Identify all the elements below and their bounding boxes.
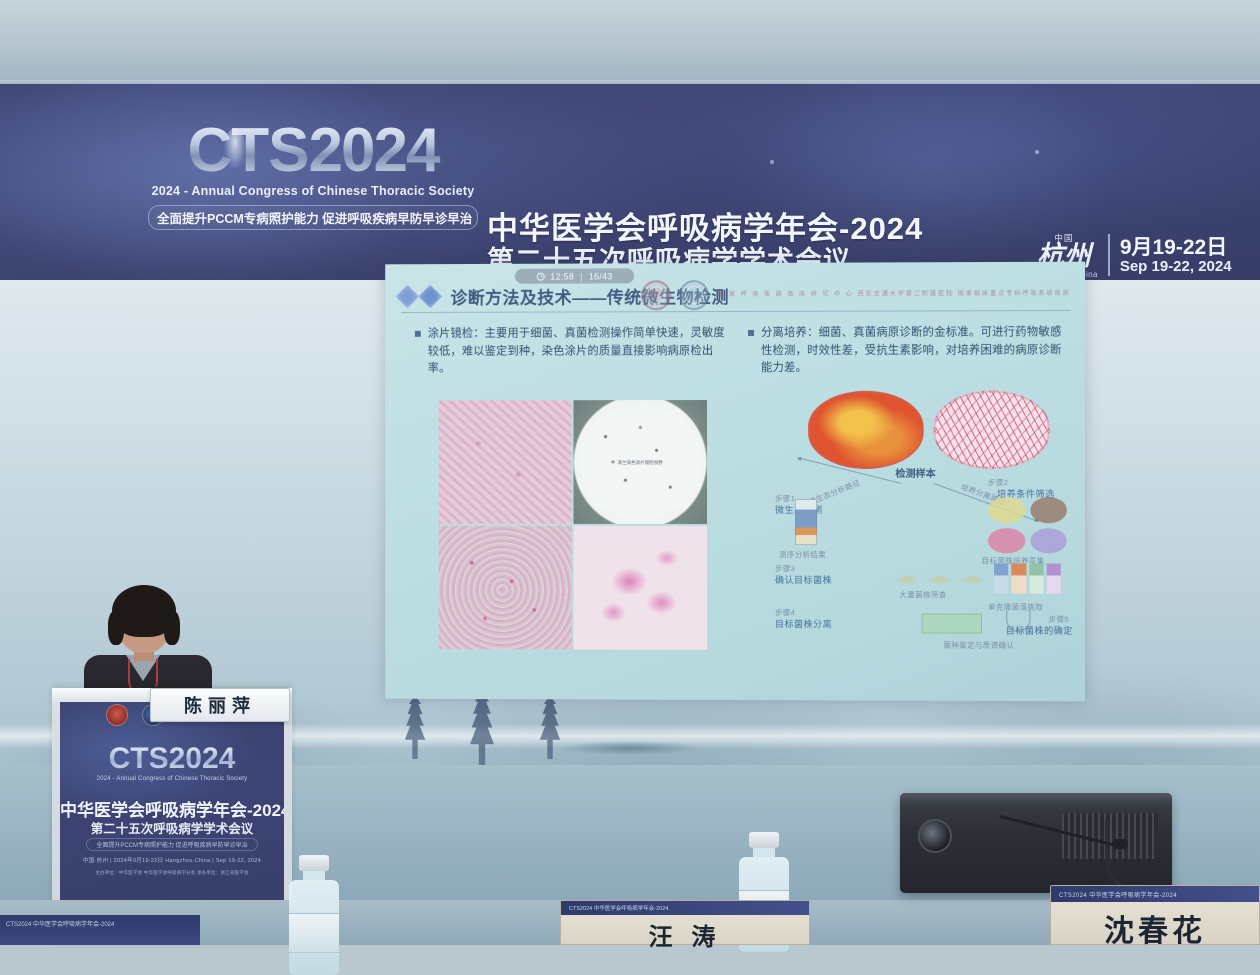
podium-cts-year: 2024	[169, 742, 236, 775]
speaker-name: 陈丽萍	[184, 692, 256, 718]
mic-arm	[1000, 815, 1117, 847]
placard-banner: CTS2024 中华医学会呼吸病学年会-2024	[561, 901, 809, 915]
backdrop-dot	[770, 160, 774, 164]
podium-cts-letters: CTS	[109, 742, 169, 775]
slide-bullet-area: 涂片镜检：主要用于细菌、真菌检测操作简单快速，灵敏度较低，难以鉴定到种，染色涂片…	[415, 324, 1067, 378]
timer-elapsed: 12:58	[550, 271, 574, 281]
micrograph-darkfield: 革兰染色涂片镜检视野	[573, 400, 707, 524]
upper-wall	[0, 0, 1260, 90]
institution-seal-icon	[641, 280, 671, 310]
colony-dot	[988, 497, 1025, 523]
bottle-neck	[303, 870, 325, 882]
placard-banner: CTS2024 中华医学会呼吸病学年会-2024	[0, 915, 200, 932]
slide-page-indicator: 16/43	[589, 271, 613, 281]
test-strip	[994, 563, 1008, 593]
slide-institution-logos: 国 家 呼 吸 疾 病 临 床 研 究 中 心 西安交通大学第二附属医院 国家临…	[641, 279, 1070, 310]
culture-plate-row	[808, 390, 1050, 468]
speaker-nameplate: 陈丽萍	[150, 688, 290, 722]
placard-name: 汪 涛	[561, 917, 809, 952]
torch-icon	[224, 128, 246, 168]
bottle-cap	[749, 832, 779, 848]
divider	[1108, 234, 1110, 276]
stage-backdrop: CTS2024 2024 - Annual Congress of Chines…	[0, 84, 1260, 280]
projector-lens-icon	[918, 819, 952, 853]
square-bullet-icon	[748, 330, 754, 336]
mic-head-icon	[1112, 839, 1128, 849]
workflow-annotation: 测序分析结果	[779, 549, 826, 560]
bacteria-chain-icon	[891, 571, 988, 587]
sample-tube-icon	[795, 499, 817, 545]
slide-surface: 12:58 | 16/43 诊断方法及技术——传统微生物检测 国 家 呼 吸 疾…	[385, 262, 1085, 702]
cts-year: 2024	[309, 116, 439, 185]
institution-seal-icon	[106, 704, 128, 726]
diamond-bullet-icon	[418, 285, 442, 309]
institution-text: 国 家 呼 吸 疾 病 临 床 研 究 中 心 西安交通大学第二附属医院 国家临…	[717, 290, 1071, 300]
test-strip-row	[994, 563, 1061, 593]
micrograph-tissue-stain	[439, 400, 572, 524]
mural-islet	[560, 741, 700, 755]
table-placard-center: CTS2024 中华医学会呼吸病学年会-2024 汪 涛	[560, 900, 810, 945]
podium-logo-subtitle: 2024 - Annual Congress of Chinese Thorac…	[60, 776, 284, 782]
bullet-text: 涂片镜检：主要用于细菌、真菌检测操作简单快速，灵敏度较低，难以鉴定到种，染色涂片…	[428, 325, 730, 378]
placard-name: 沈春花	[1051, 906, 1259, 950]
presentation-timer-badge: 12:58 | 16/43	[515, 268, 634, 283]
dates-block: 9月19-22日 Sep 19-22, 2024	[1120, 236, 1232, 276]
date-cn: 9月19-22日	[1120, 236, 1232, 259]
projection-screen: 12:58 | 16/43 诊断方法及技术——传统微生物检测 国 家 呼 吸 疾…	[385, 262, 1085, 702]
bullet-item: 分离培养：细菌、真菌病原诊断的金标准。可进行药物敏感性检测，时效性差，受抗生素影…	[748, 324, 1067, 377]
cts-subtitle: 2024 - Annual Congress of Chinese Thorac…	[148, 184, 478, 198]
colony-cluster-icon	[988, 497, 1067, 553]
slide-header-rule	[401, 310, 1071, 313]
seal-inner-ring	[647, 286, 665, 304]
workflow-step-label: 目标菌株分离	[775, 617, 832, 630]
workflow-header: 检测样本	[895, 465, 935, 480]
colony-dot	[1030, 528, 1067, 554]
workflow-diagram: 检测样本 微生态分析路径 培养分离路径 步骤1 微生态检测 测序分析结果 步骤2…	[773, 463, 1075, 654]
speaker-hair	[112, 585, 176, 637]
agar-streak-icon	[922, 613, 982, 633]
workflow-annotation: 菌种鉴定与质谱确认	[944, 640, 1015, 651]
workflow-step-label: 确认目标菌株	[775, 573, 832, 586]
workflow-annotation: 大量菌株筛查	[899, 589, 946, 600]
micrograph-grid: 革兰染色涂片镜检视野	[439, 400, 707, 650]
bullet-text: 分离培养：细菌、真菌病原诊断的金标准。可进行药物敏感性检测，时效性差，受抗生素影…	[761, 324, 1067, 377]
bullet-column-right: 分离培养：细菌、真菌病原诊断的金标准。可进行药物敏感性检测，时效性差，受抗生素影…	[748, 324, 1067, 377]
cts-logo: CTS2024 2024 - Annual Congress of Chines…	[148, 120, 478, 230]
bottle-neck	[753, 847, 775, 859]
blood-agar-plate	[808, 391, 923, 469]
podium-cts-logo: CTS2024	[60, 744, 284, 774]
diamond-bullet-icon	[396, 285, 420, 309]
bottle-cap	[299, 855, 329, 871]
table-placard-left: CTS2024 中华医学会呼吸病学年会-2024	[0, 915, 200, 945]
colony-dot	[1030, 497, 1067, 523]
cts-letters: CTS	[188, 116, 309, 185]
micrograph-caption: 革兰染色涂片镜检视野	[618, 460, 663, 466]
test-strip	[1046, 563, 1060, 593]
table-placard-right: CTS2024 中华医学会呼吸病学年会-2024 沈春花	[1050, 885, 1260, 945]
cts-tagline: 全面提升PCCM专病照护能力 促进呼吸疾病早防早诊早治	[148, 205, 478, 230]
placard-banner: CTS2024 中华医学会呼吸病学年会-2024	[1051, 886, 1259, 902]
podium-title-line2: 第二十五次呼吸病学学术会议	[60, 818, 284, 837]
macconkey-agar-plate	[934, 390, 1050, 468]
timer-separator: |	[580, 271, 583, 281]
workflow-step-label: 目标菌株的确定	[1006, 624, 1073, 637]
microphone-stand	[1000, 815, 1130, 865]
bullet-item: 涂片镜检：主要用于细菌、真菌检测操作简单快速，灵敏度较低，难以鉴定到种，染色涂片…	[415, 325, 730, 378]
date-en: Sep 19-22, 2024	[1120, 259, 1232, 276]
micrograph-gram-stain	[439, 526, 572, 650]
colony-dot	[988, 528, 1025, 554]
seal-inner-ring	[685, 286, 703, 304]
test-strip	[1029, 563, 1043, 593]
bottle-label	[289, 913, 339, 953]
backdrop-dot	[1035, 150, 1039, 154]
water-bottle	[285, 855, 343, 975]
bullet-column-left: 涂片镜检：主要用于细菌、真菌检测操作简单快速，灵敏度较低，难以鉴定到种，染色涂片…	[415, 325, 730, 378]
clock-icon	[536, 272, 544, 280]
test-strip	[1012, 563, 1026, 593]
micrograph-fungal-stain	[573, 526, 707, 650]
square-bullet-icon	[415, 331, 421, 337]
institution-seal-icon	[679, 280, 709, 310]
congress-title-line1: 中华医学会呼吸病学年会-2024	[487, 212, 923, 246]
conference-photo-scene: CTS2024 2024 - Annual Congress of Chines…	[0, 0, 1260, 945]
podium-date-line: 中国·杭州 | 2024年9月19-22日 Hangzhou,China | S…	[60, 856, 284, 864]
projector-top	[900, 793, 1172, 805]
podium-tagline: 全面提升PCCM专病照护能力 促进呼吸疾病早防早诊早治	[86, 838, 258, 851]
cts-wordmark: CTS2024	[148, 120, 478, 182]
podium-orgs-line: 主办单位：中华医学会 中华医学会呼吸病学分会 承办单位：浙江省医学会	[60, 870, 284, 876]
